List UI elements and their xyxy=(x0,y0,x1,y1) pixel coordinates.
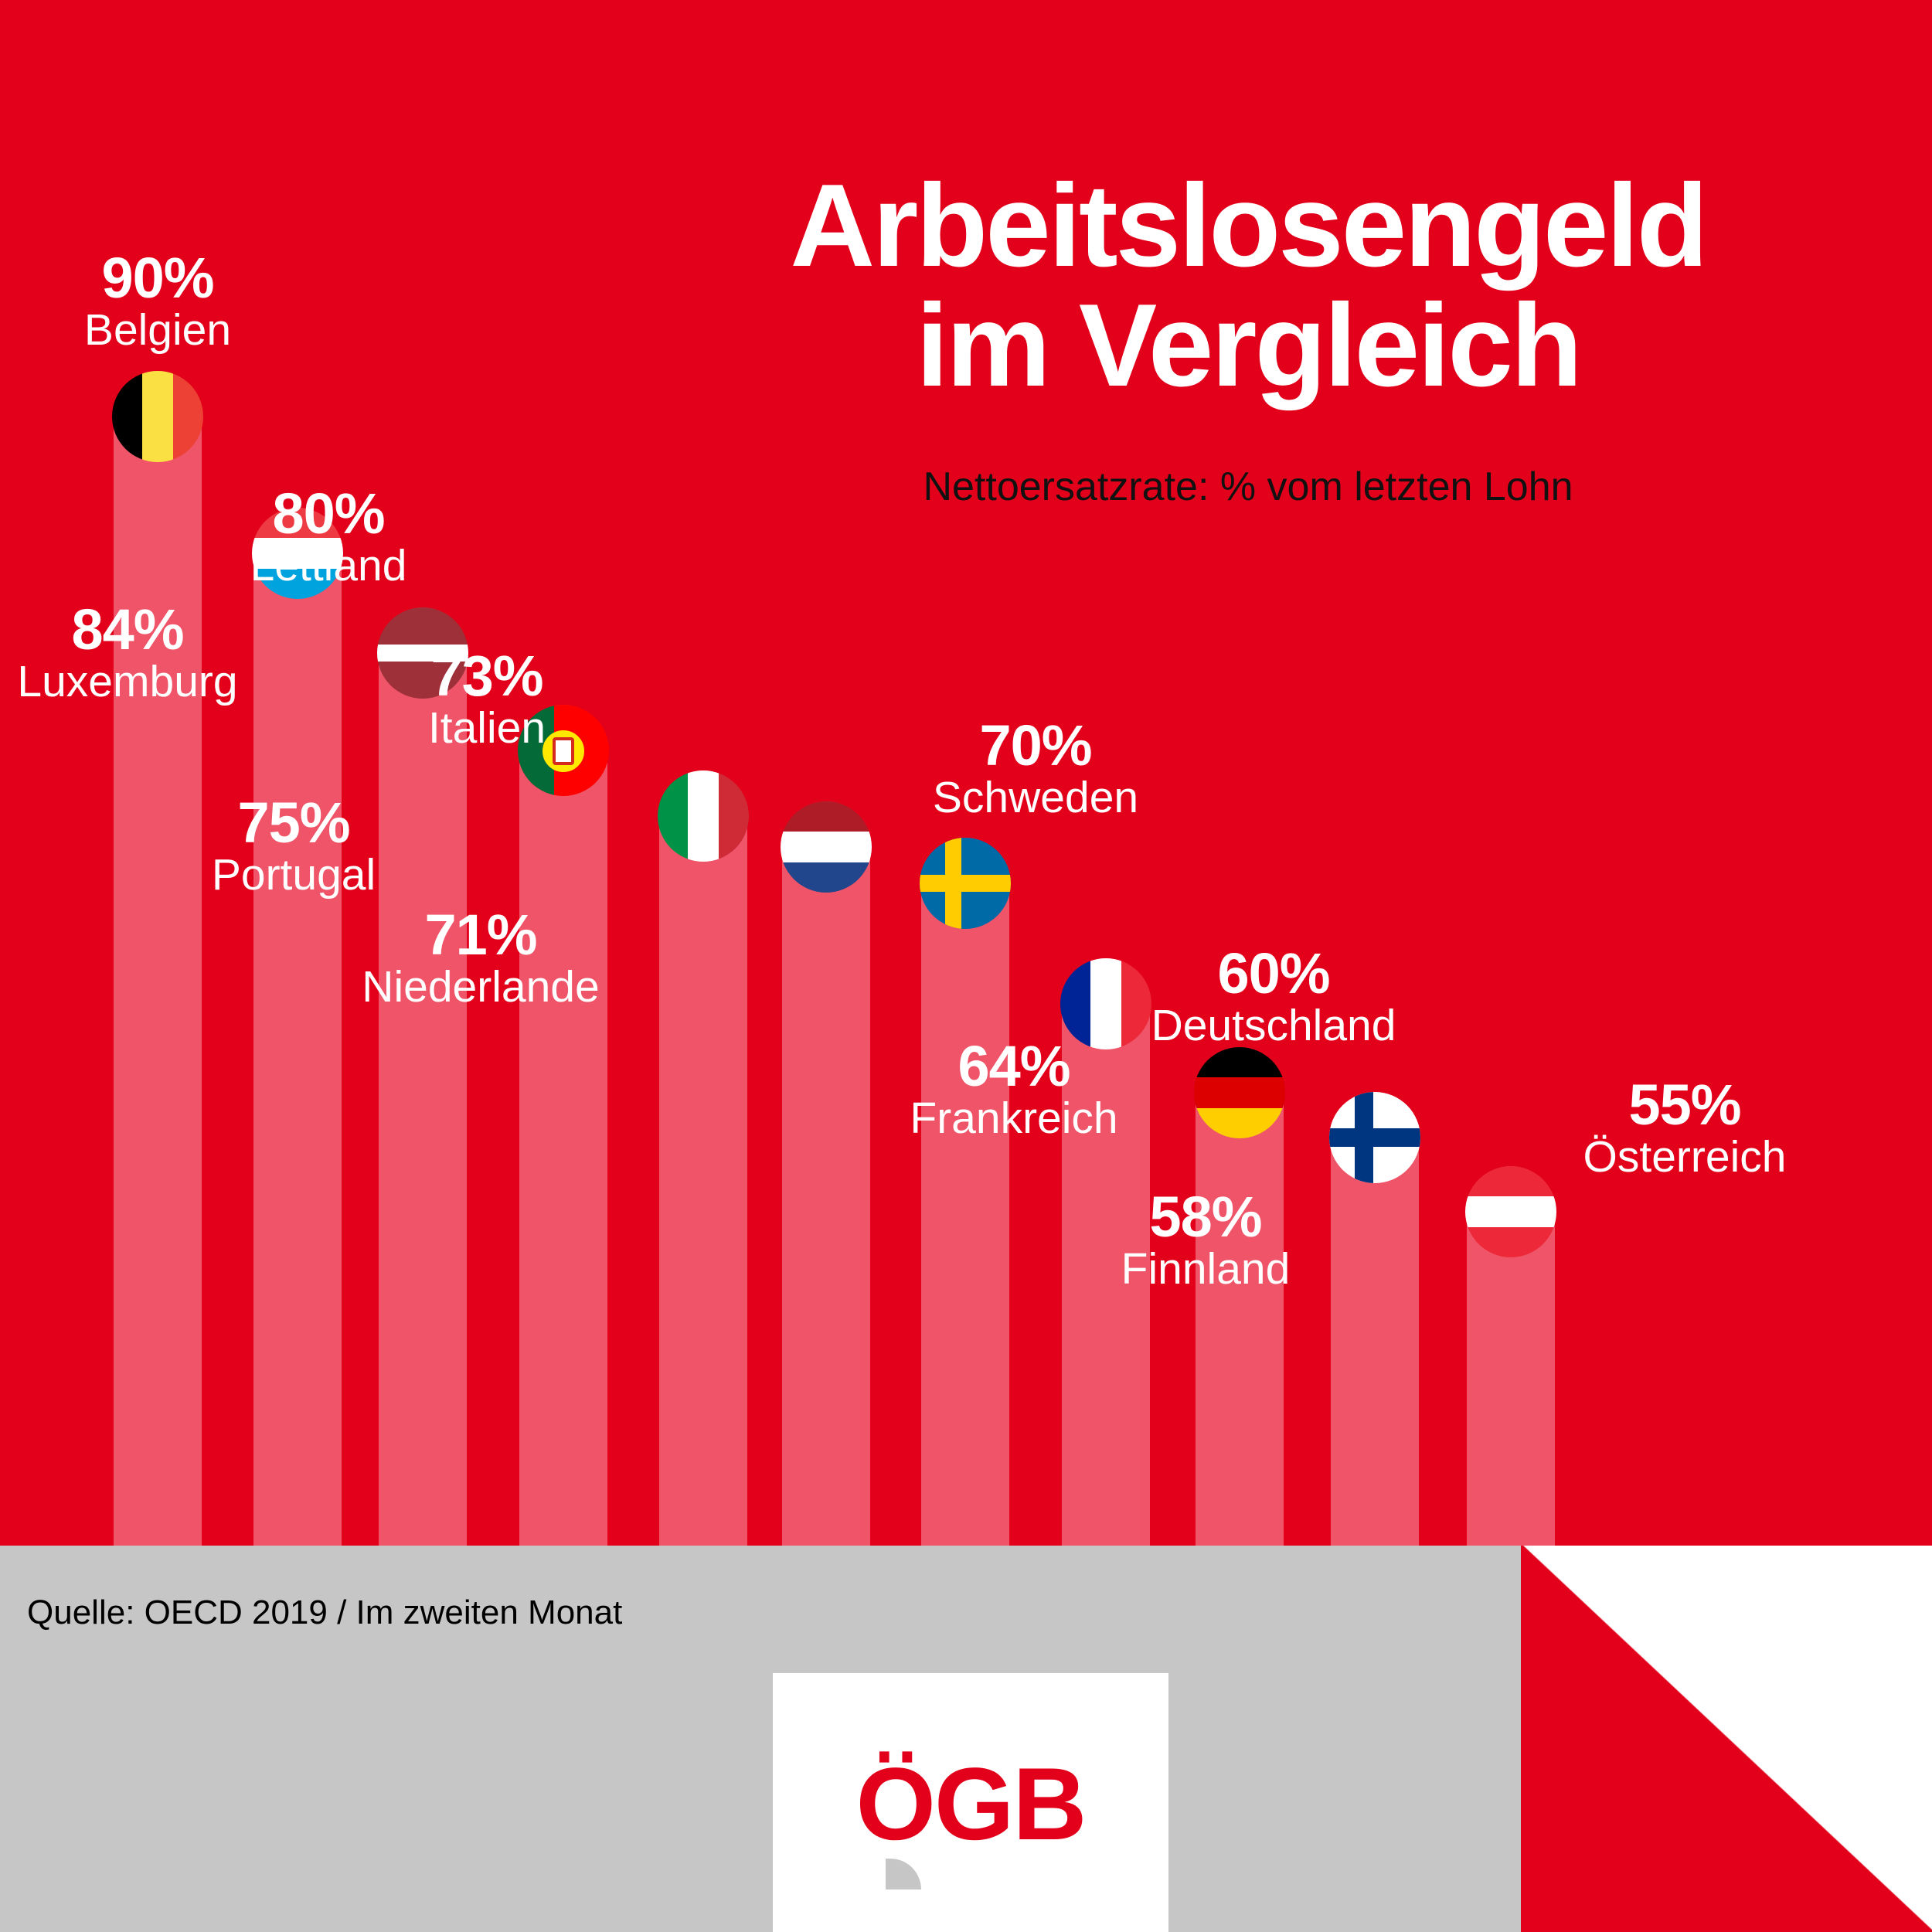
value-niederlande: 71% xyxy=(353,908,608,962)
country-oesterreich: Österreich xyxy=(1538,1132,1832,1183)
value-luxemburg: 84% xyxy=(4,603,251,657)
title-line-2: im Vergleich xyxy=(696,286,1801,406)
flag-belgium-icon xyxy=(112,371,203,462)
value-oesterreich: 55% xyxy=(1538,1078,1832,1132)
country-schweden: Schweden xyxy=(912,773,1159,824)
title-line-1: Arbeitslosengeld xyxy=(696,166,1801,286)
flag-netherlands-icon xyxy=(781,801,872,893)
label-schweden: 70% Schweden xyxy=(912,719,1159,824)
label-frankreich: 64% Frankreich xyxy=(883,1039,1145,1145)
oegb-logo-wedge xyxy=(886,1859,921,1889)
bar-italien xyxy=(659,770,747,1553)
infographic-canvas: 90% Belgien 84% Luxemburg 80% Lettland 7… xyxy=(0,0,1932,1932)
oegb-logo-text: ÖGB xyxy=(773,1753,1168,1856)
bar-luxemburg xyxy=(253,508,342,1553)
country-luxemburg: Luxemburg xyxy=(4,657,251,708)
country-finnland: Finnland xyxy=(1082,1244,1329,1295)
footer-bar: Quelle: OECD 2019 / Im zweiten Monat xyxy=(0,1546,1521,1932)
bar-portugal xyxy=(519,705,607,1553)
label-deutschland: 60% Deutschland xyxy=(1134,947,1413,1052)
value-portugal: 75% xyxy=(170,796,417,850)
flag-sweden-icon xyxy=(920,838,1011,929)
label-niederlande: 71% Niederlande xyxy=(353,908,608,1013)
label-italien: 73% Italien xyxy=(363,649,611,754)
country-italien: Italien xyxy=(363,703,611,754)
bar-belgien xyxy=(114,371,202,1553)
value-schweden: 70% xyxy=(912,719,1159,773)
oegb-logo: ÖGB xyxy=(773,1673,1168,1932)
bar-schweden xyxy=(921,838,1009,1553)
country-deutschland: Deutschland xyxy=(1134,1001,1413,1052)
label-lettland: 80% Lettland xyxy=(205,487,452,592)
label-belgien: 90% Belgien xyxy=(34,251,281,356)
label-oesterreich: 55% Österreich xyxy=(1538,1078,1832,1183)
country-frankreich: Frankreich xyxy=(883,1094,1145,1145)
source-text: Quelle: OECD 2019 / Im zweiten Monat xyxy=(27,1594,622,1632)
country-belgien: Belgien xyxy=(34,305,281,356)
value-italien: 73% xyxy=(363,649,611,703)
value-belgien: 90% xyxy=(34,251,281,305)
flag-italy-icon xyxy=(658,770,749,862)
page-title: Arbeitslosengeld im Vergleich xyxy=(696,166,1801,406)
country-niederlande: Niederlande xyxy=(353,962,608,1013)
corner-triangle-decoration xyxy=(1521,1546,1932,1932)
label-portugal: 75% Portugal xyxy=(170,796,417,901)
flag-finland-icon xyxy=(1329,1092,1420,1183)
flag-germany-icon xyxy=(1194,1047,1285,1138)
page-subtitle: Nettoersatzrate: % vom letzten Lohn xyxy=(696,464,1801,510)
value-lettland: 80% xyxy=(205,487,452,541)
country-portugal: Portugal xyxy=(170,850,417,901)
bar-niederlande xyxy=(782,801,870,1553)
value-finnland: 58% xyxy=(1082,1190,1329,1244)
country-lettland: Lettland xyxy=(205,541,452,592)
label-finnland: 58% Finnland xyxy=(1082,1190,1329,1295)
value-frankreich: 64% xyxy=(883,1039,1145,1094)
label-luxemburg: 84% Luxemburg xyxy=(4,603,251,708)
value-deutschland: 60% xyxy=(1134,947,1413,1001)
